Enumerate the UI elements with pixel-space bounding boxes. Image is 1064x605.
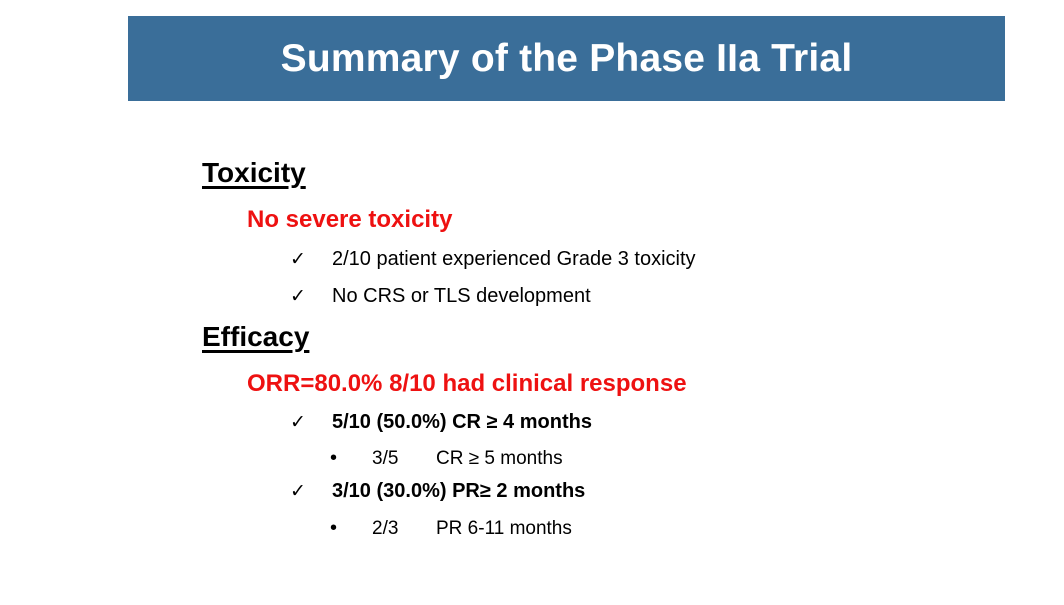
check-icon: ✓	[290, 287, 332, 306]
list-item-fraction: 2/3	[372, 519, 436, 538]
slide-body: Toxicity No severe toxicity ✓ 2/10 patie…	[0, 101, 1064, 605]
section-heading-toxicity: Toxicity	[202, 159, 306, 187]
list-item: • 2/3 PR 6-11 months	[330, 518, 572, 538]
check-icon: ✓	[290, 413, 332, 432]
list-item: ✓ 3/10 (30.0%) PR≥ 2 months	[290, 481, 585, 501]
dot-icon: •	[330, 448, 372, 468]
highlight-orr: ORR=80.0% 8/10 had clinical response	[247, 372, 687, 396]
list-item: ✓ 5/10 (50.0%) CR ≥ 4 months	[290, 412, 592, 432]
check-icon: ✓	[290, 250, 332, 269]
list-item-label: 5/10 (50.0%) CR ≥ 4 months	[332, 412, 592, 432]
list-item-fraction: 3/5	[372, 449, 436, 468]
slide-title-banner: Summary of the Phase IIa Trial	[128, 16, 1005, 101]
list-item: ✓ 2/10 patient experienced Grade 3 toxic…	[290, 249, 696, 269]
list-item: • 3/5 CR ≥ 5 months	[330, 448, 563, 468]
check-icon: ✓	[290, 482, 332, 501]
list-item: ✓ No CRS or TLS development	[290, 286, 591, 306]
page-title: Summary of the Phase IIa Trial	[281, 39, 853, 78]
dot-icon: •	[330, 518, 372, 538]
highlight-no-severe-toxicity: No severe toxicity	[247, 208, 452, 232]
list-item-label: CR ≥ 5 months	[436, 449, 563, 468]
section-heading-efficacy: Efficacy	[202, 323, 309, 351]
list-item-label: 3/10 (30.0%) PR≥ 2 months	[332, 481, 585, 501]
slide-canvas: Summary of the Phase IIa Trial Toxicity …	[0, 0, 1064, 605]
list-item-label: 2/10 patient experienced Grade 3 toxicit…	[332, 249, 696, 269]
list-item-label: PR 6-11 months	[436, 519, 572, 538]
list-item-label: No CRS or TLS development	[332, 286, 591, 306]
